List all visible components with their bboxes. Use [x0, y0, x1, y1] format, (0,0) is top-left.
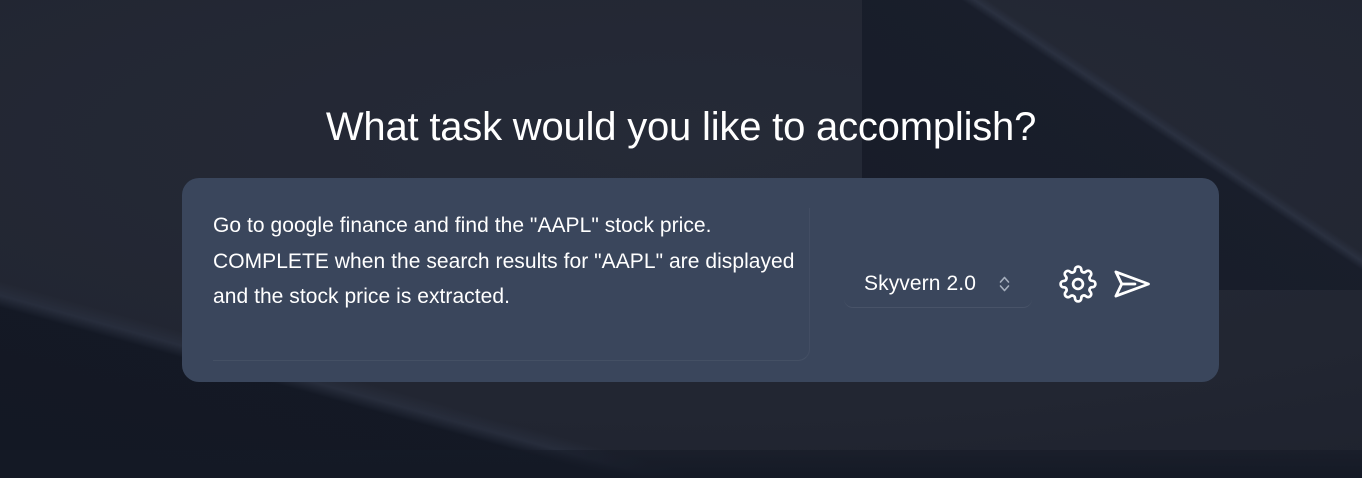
prompt-card: Skyvern 2.0: [182, 178, 1219, 382]
background-bottom-strip: [0, 450, 1362, 478]
chevron-up-down-icon: [998, 274, 1011, 294]
settings-button[interactable]: [1054, 260, 1102, 308]
task-input[interactable]: [213, 208, 810, 361]
prompt-controls-area: Skyvern 2.0: [828, 178, 1219, 382]
send-button[interactable]: [1108, 260, 1156, 308]
send-icon: [1110, 262, 1154, 306]
prompt-input-area: [182, 178, 828, 382]
page-title: What task would you like to accomplish?: [0, 101, 1362, 153]
model-select-value: Skyvern 2.0: [864, 272, 976, 296]
app-screen: What task would you like to accomplish? …: [0, 0, 1362, 478]
model-select[interactable]: Skyvern 2.0: [844, 260, 1032, 308]
gear-icon: [1059, 265, 1097, 303]
controls-row: Skyvern 2.0: [844, 260, 1156, 308]
